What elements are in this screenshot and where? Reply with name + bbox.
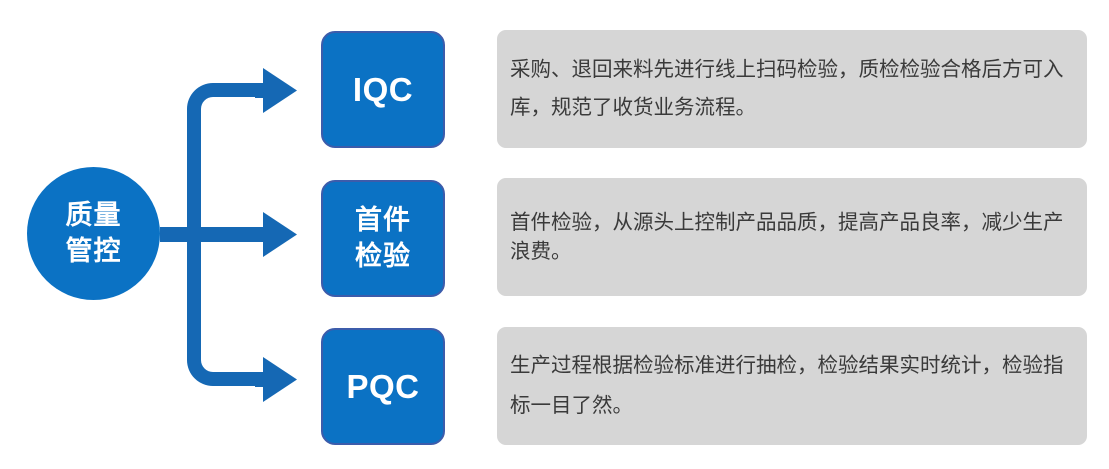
description-panel-pqc: 生产过程根据检验标准进行抽检，检验结果实时统计，检验指标一目了然。 (497, 327, 1087, 445)
branch-node-first-article[interactable]: 首件 检验 (321, 180, 445, 297)
hub-label-line-2: 管控 (66, 234, 122, 270)
description-panel-iqc-text: 采购、退回来料先进行线上扫码检验，质检检验合格后方可入库，规范了收货业务流程。 (510, 51, 1073, 127)
arrowhead-middle-icon (263, 212, 297, 257)
hub-label-line-1: 质量 (66, 198, 122, 234)
arrowhead-bottom-icon (263, 357, 297, 402)
connector-top-shaft (255, 83, 277, 98)
connector-middle-stem (160, 227, 270, 242)
hub-node-quality-control[interactable]: 质量 管控 (27, 167, 160, 300)
branch-node-first-article-label-line-1: 首件 (355, 203, 411, 238)
branch-node-pqc-label: PQC (346, 368, 419, 406)
description-panel-pqc-text: 生产过程根据检验标准进行抽检，检验结果实时统计，检验指标一目了然。 (510, 346, 1073, 426)
branch-node-first-article-label-line-2: 检验 (355, 239, 411, 274)
branch-node-pqc[interactable]: PQC (321, 328, 445, 445)
branch-node-iqc[interactable]: IQC (321, 31, 445, 148)
arrowhead-top-icon (263, 68, 297, 113)
connector-bottom-shaft (255, 372, 277, 387)
description-panel-iqc: 采购、退回来料先进行线上扫码检验，质检检验合格后方可入库，规范了收货业务流程。 (497, 30, 1087, 148)
description-panel-first-article: 首件检验，从源头上控制产品品质，提高产品良率，减少生产浪费。 (497, 178, 1087, 296)
description-panel-first-article-text: 首件检验，从源头上控制产品品质，提高产品良率，减少生产浪费。 (510, 208, 1073, 266)
branch-node-iqc-label: IQC (353, 71, 413, 109)
diagram-canvas: 质量 管控 IQC 首件 检验 PQC (0, 0, 1109, 469)
connector-trunk-path (187, 83, 263, 386)
branch-node-first-article-label: 首件 检验 (355, 203, 411, 273)
